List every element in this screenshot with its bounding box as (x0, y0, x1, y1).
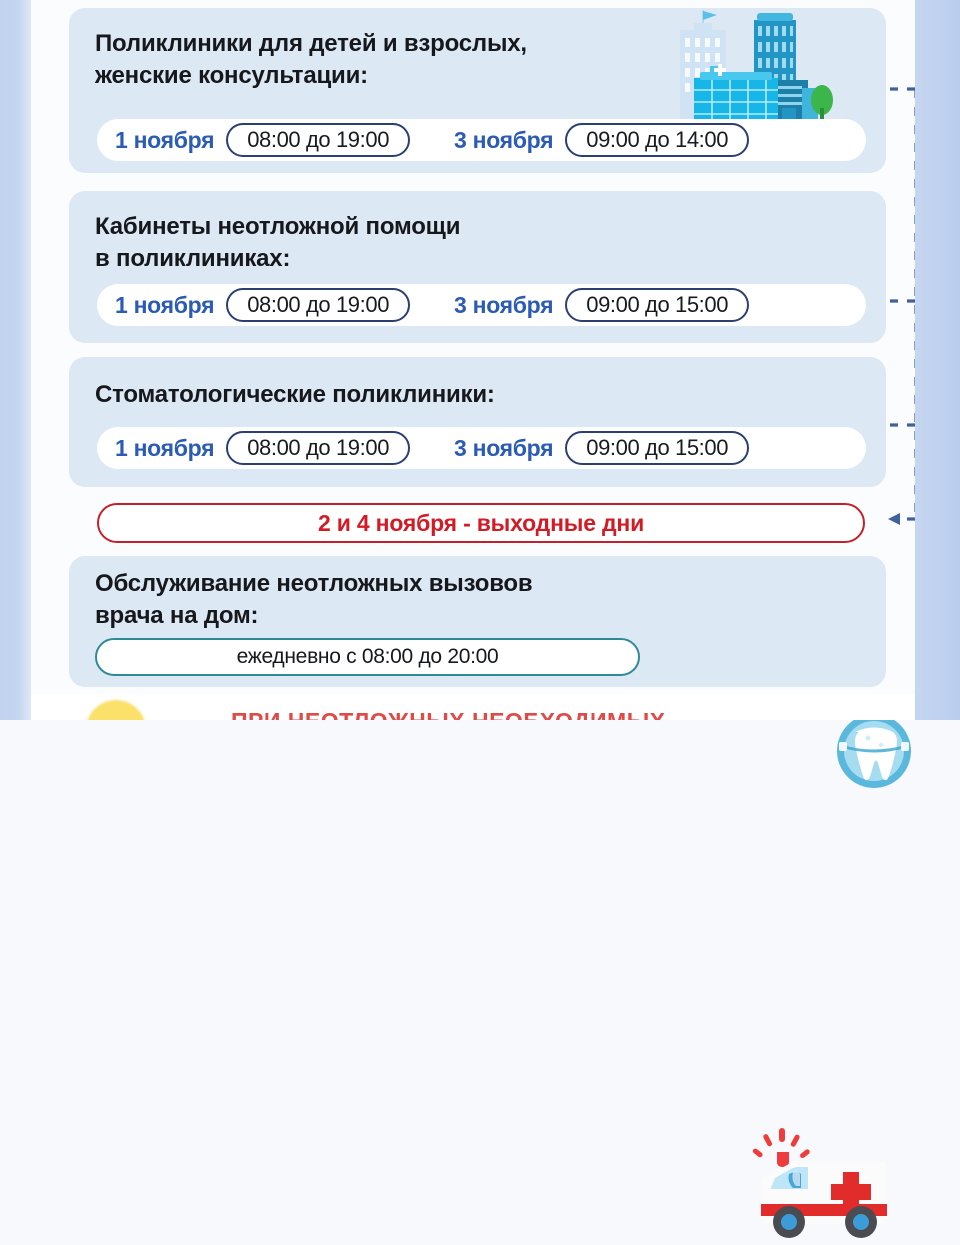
card-dental-clinics-title: Стоматологические поликлиники: (95, 379, 495, 411)
time-chip: 09:00 до 14:00 (565, 123, 749, 157)
holiday-banner: 2 и 4 ноября - выходные дни (97, 503, 865, 543)
time-chip: 09:00 до 15:00 (565, 431, 749, 465)
schedule-row-polyclinics: 1 ноября 08:00 до 19:00 3 ноября 09:00 д… (97, 119, 866, 161)
city-hospital-icon (654, 10, 844, 132)
home-visits-schedule-text: ежедневно с 08:00 до 20:00 (237, 645, 499, 669)
card-polyclinics: Поликлиники для детей и взрослых, женски… (69, 8, 886, 173)
date-label: 3 ноября (454, 292, 553, 319)
time-chip: 09:00 до 15:00 (565, 288, 749, 322)
schedule-row-urgent-care: 1 ноября 08:00 до 19:00 3 ноября 09:00 д… (97, 284, 866, 326)
card-home-visits-title: Обслуживание неотложных вызовов врача на… (95, 568, 532, 632)
card-urgent-care-rooms-title: Кабинеты неотложной помощи в поликлиника… (95, 211, 460, 275)
time-chip: 08:00 до 19:00 (226, 288, 410, 322)
bottom-cutoff-strip: ПРИ НЕОТЛОЖНЫХ НЕОБХОДИМЫХ (31, 694, 915, 720)
card-dental-clinics: Стоматологические поликлиники: 1 ноября … (69, 357, 886, 487)
date-label: 1 ноября (115, 292, 214, 319)
bottom-cutoff-text: ПРИ НЕОТЛОЖНЫХ НЕОБХОДИМЫХ (231, 708, 666, 720)
schedule-row-dental: 1 ноября 08:00 до 19:00 3 ноября 09:00 д… (97, 427, 866, 469)
date-label: 3 ноября (454, 435, 553, 462)
card-polyclinics-title: Поликлиники для детей и взрослых, женски… (95, 28, 527, 92)
right-decor-band (915, 0, 960, 720)
date-label: 1 ноября (115, 435, 214, 462)
time-chip: 08:00 до 19:00 (226, 431, 410, 465)
left-decor-band (0, 0, 31, 720)
date-label: 3 ноября (454, 127, 553, 154)
holiday-banner-text: 2 и 4 ноября - выходные дни (318, 510, 644, 537)
date-label: 1 ноября (115, 127, 214, 154)
time-chip: 08:00 до 19:00 (226, 123, 410, 157)
home-visits-schedule-pill: ежедневно с 08:00 до 20:00 (95, 638, 640, 676)
card-urgent-care-rooms: Кабинеты неотложной помощи в поликлиника… (69, 191, 886, 343)
sun-icon (86, 700, 146, 720)
ambulance-icon (731, 1122, 907, 1240)
tooth-icon (825, 712, 923, 790)
infographic-sheet: Поликлиники для детей и взрослых, женски… (31, 0, 915, 720)
